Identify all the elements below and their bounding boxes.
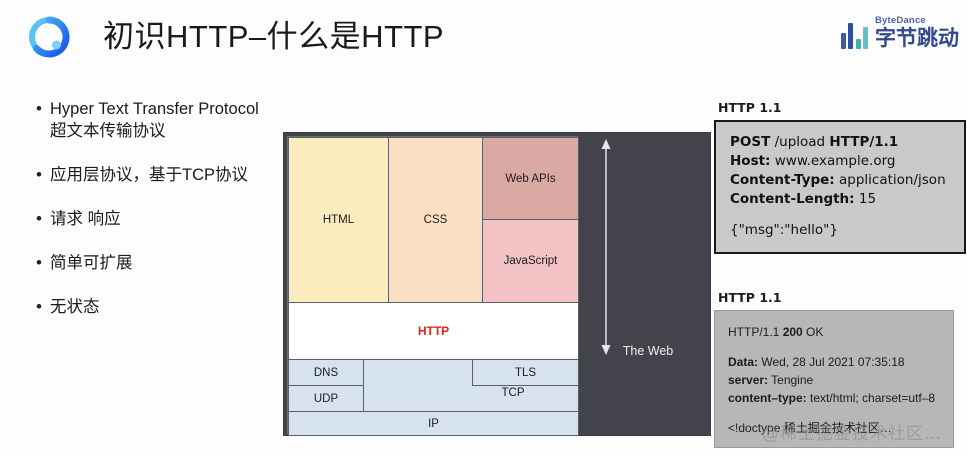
response-status-code: 200 — [783, 325, 803, 339]
stack-cell-label: TLS — [515, 367, 536, 379]
stack-cell-css: CSS — [388, 137, 483, 303]
bullet-dot-icon: • — [36, 252, 50, 274]
request-header-content-type: Content-Type: application/json — [730, 171, 964, 190]
bytedance-logo: ByteDance 字节跳动 — [841, 16, 960, 49]
header-key: content–type: — [728, 391, 807, 405]
request-blank-line — [730, 209, 964, 221]
stack-cell-tls: TLS — [472, 359, 579, 386]
list-item: • 应用层协议，基于TCP协议 — [36, 164, 306, 186]
bullet-text: 简单可扩展 — [50, 252, 133, 274]
request-header-host: Host: www.example.org — [730, 152, 964, 171]
the-web-label: The Web — [586, 271, 710, 431]
bullet-dot-icon: • — [36, 164, 50, 186]
response-header-server: server: Tengine — [728, 371, 953, 389]
stack-cell-javascript: JavaScript — [482, 219, 579, 303]
stack-cell-label: CSS — [424, 214, 448, 226]
http-request-panel: HTTP 1.1 POST /upload HTTP/1.1 Host: www… — [714, 100, 966, 254]
header-key: Content-Type: — [730, 172, 835, 188]
bullet-text: 应用层协议，基于TCP协议 — [50, 164, 248, 186]
stack-cell-label: JavaScript — [504, 255, 558, 267]
response-header-date: Data: Wed, 28 Jul 2021 07:35:18 — [728, 353, 953, 371]
stack-cell-label: DNS — [314, 367, 338, 379]
protocol-stack: HTML CSS Web APIs JavaScript HTTP TCP DN… — [287, 136, 578, 434]
request-method: POST — [730, 134, 770, 150]
list-item: • 简单可扩展 — [36, 252, 306, 274]
bullet-text: 无状态 — [50, 296, 100, 318]
request-path: /upload — [770, 134, 829, 150]
bullet-list: • Hyper Text Transfer Protocol 超文本传输协议 •… — [36, 98, 306, 340]
response-status-line: HTTP/1.1 200 OK — [728, 323, 953, 341]
stack-cell-udp: UDP — [288, 385, 364, 412]
stack-cell-label: Web APIs — [505, 173, 555, 185]
stack-cell-label: IP — [428, 418, 439, 430]
brand-name-en: ByteDance — [875, 16, 959, 26]
list-item: • 无状态 — [36, 296, 306, 318]
response-header-content-type: content–type: text/html; charset=utf–8 — [728, 389, 953, 407]
stack-cell-label: UDP — [314, 393, 338, 405]
list-item: • Hyper Text Transfer Protocol 超文本传输协议 — [36, 98, 306, 142]
request-message-box: POST /upload HTTP/1.1 Host: www.example.… — [714, 120, 966, 254]
bullet-dot-icon: • — [36, 296, 50, 318]
stack-cell-http: HTTP — [288, 302, 579, 360]
slide-root: 初识HTTP–什么是HTTP ByteDance 字节跳动 • Hyper Te… — [0, 0, 967, 455]
response-blank-line — [728, 341, 953, 353]
web-stack-diagram: HTML CSS Web APIs JavaScript HTTP TCP DN… — [283, 132, 711, 436]
watermark: @稀土掘金技术社区… — [762, 419, 942, 444]
page-title: 初识HTTP–什么是HTTP — [103, 11, 444, 56]
bullet-dot-icon: • — [36, 208, 50, 230]
header-value: application/json — [835, 172, 946, 188]
bytedance-bars-icon — [841, 23, 869, 49]
circular-q-logo-icon — [24, 12, 74, 62]
stack-cell-label: HTML — [323, 214, 354, 226]
header-key: server: — [728, 373, 768, 387]
stack-cell-html: HTML — [288, 137, 389, 303]
list-item: • 请求 响应 — [36, 208, 306, 230]
header-value: 15 — [855, 191, 876, 207]
response-version: HTTP/1.1 — [728, 325, 783, 339]
response-status-text: OK — [803, 325, 824, 339]
brand-name-cn: 字节跳动 — [875, 28, 959, 49]
request-start-line: POST /upload HTTP/1.1 — [730, 133, 964, 152]
response-panel-caption: HTTP 1.1 — [714, 290, 966, 305]
header-value: Tengine — [768, 373, 813, 387]
stack-cell-label: HTTP — [418, 324, 449, 338]
header-value: www.example.org — [770, 153, 895, 169]
request-panel-caption: HTTP 1.1 — [714, 100, 966, 115]
bullet-text: 请求 响应 — [50, 208, 121, 230]
header-key: Host: — [730, 153, 770, 169]
header-key: Content-Length: — [730, 191, 855, 207]
header-value: Wed, 28 Jul 2021 07:35:18 — [758, 355, 905, 369]
request-version: HTTP/1.1 — [829, 134, 898, 150]
header-key: Data: — [728, 355, 758, 369]
request-body: {"msg":"hello"} — [730, 221, 964, 240]
response-blank-line-2 — [728, 407, 953, 419]
stack-cell-label: TCP — [502, 387, 525, 399]
request-header-content-length: Content-Length: 15 — [730, 190, 964, 209]
stack-cell-ip: IP — [288, 411, 579, 436]
header-value: text/html; charset=utf–8 — [807, 391, 935, 405]
stack-cell-web-apis: Web APIs — [482, 137, 579, 220]
bullet-text: Hyper Text Transfer Protocol 超文本传输协议 — [50, 98, 259, 142]
bullet-dot-icon: • — [36, 98, 50, 120]
stack-cell-dns: DNS — [288, 359, 364, 386]
